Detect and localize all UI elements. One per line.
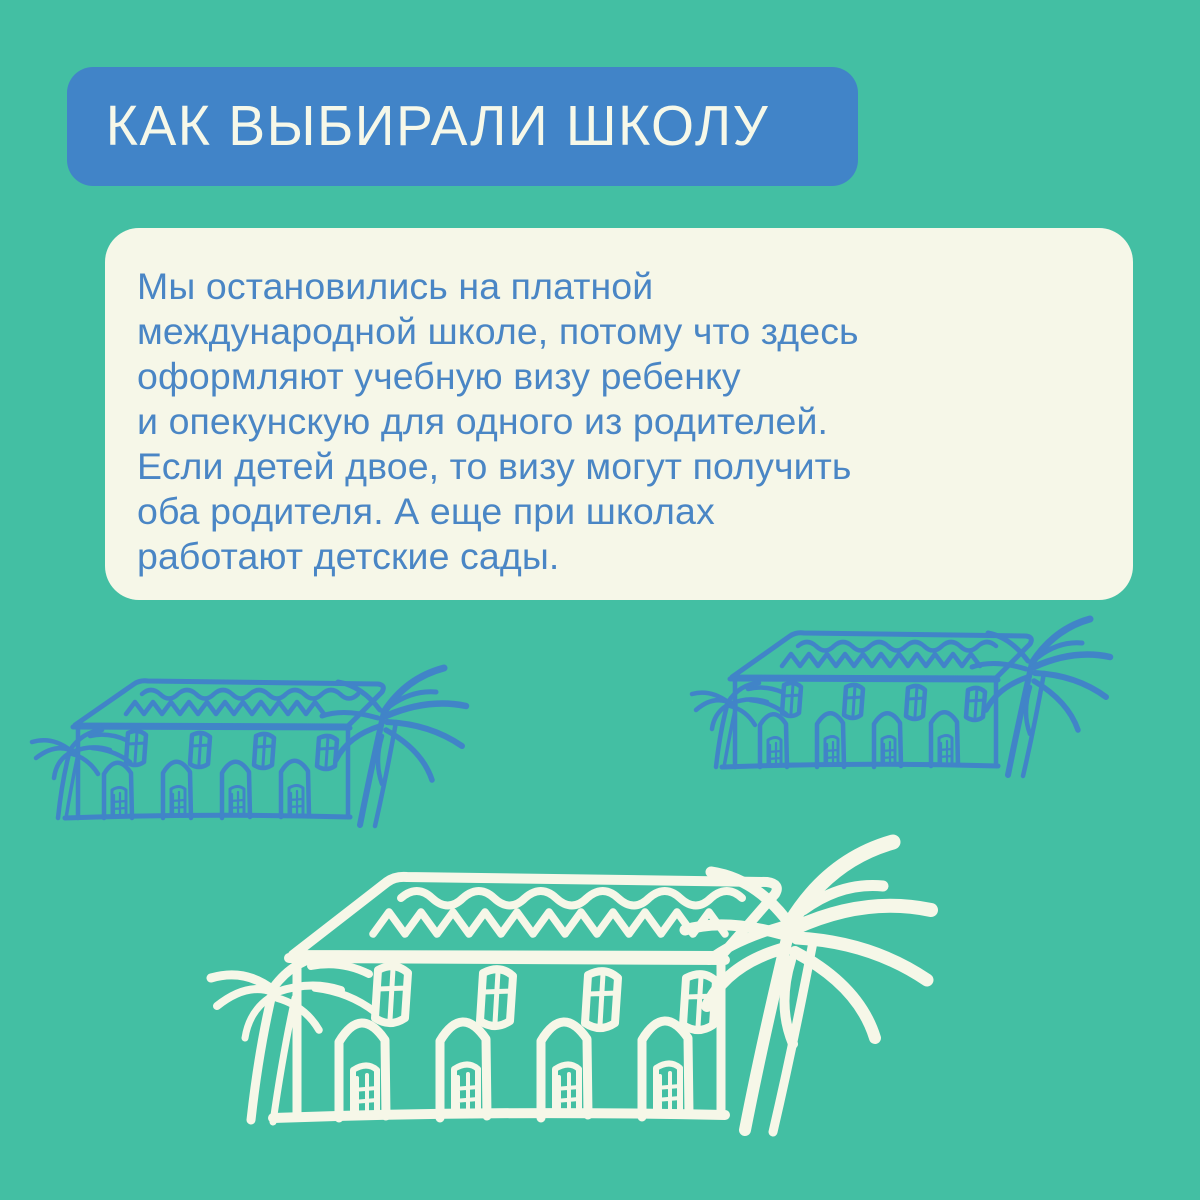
palm-right-frond-8 (803, 886, 883, 911)
page-title: КАК ВЫБИРАЛИ ШКОЛУ (67, 98, 769, 155)
roof-tiles-lower (373, 912, 725, 934)
palm-left-frond-7 (90, 735, 126, 740)
palm-left-frond-6 (712, 706, 726, 729)
palm-right-trunk (1008, 663, 1032, 775)
palm-right-frond-2 (386, 704, 466, 716)
palm-right-trunk-2 (375, 722, 396, 826)
door-group (760, 712, 958, 767)
palm-right-trunk (745, 922, 791, 1130)
school-building-sketch-right (690, 605, 1140, 815)
window-3 (254, 734, 274, 768)
door-1-panel (768, 738, 781, 766)
palm-left-trunk (58, 750, 70, 818)
palm-left-trunk-2 (66, 754, 78, 818)
door-2-panel (171, 787, 185, 817)
door-1-grid (112, 793, 126, 815)
palm-right-frond-3 (1035, 673, 1106, 697)
palm-left-frond-1 (692, 693, 728, 702)
palm-left-frond-2 (696, 700, 728, 710)
door-4 (931, 712, 958, 766)
palm-left-frond-1 (32, 740, 70, 750)
palm-left-trunk-2 (273, 998, 295, 1122)
door-3-panel (230, 787, 244, 817)
roof-tiles-lower (126, 702, 324, 714)
palm-right-frond-5 (336, 726, 380, 760)
palm-left-frond-8 (315, 988, 375, 1012)
door-3-grid (555, 1074, 579, 1113)
palm-right-frond-6 (972, 663, 1026, 669)
window-group (126, 731, 337, 769)
palm-tree-left (211, 956, 375, 1122)
door-3 (541, 1022, 588, 1118)
title-badge: КАК ВЫБИРАЛИ ШКОЛУ (67, 67, 858, 186)
palm-right-trunk-2 (773, 942, 813, 1132)
door-4-panel (939, 736, 952, 765)
window-3 (906, 686, 925, 719)
roof-tiles-upper (142, 690, 358, 699)
window-4-mullion (319, 737, 337, 766)
palm-left-frond-6 (54, 754, 68, 778)
palm-left-trunk (251, 990, 273, 1120)
window-2 (480, 969, 513, 1026)
palm-right-frond-1 (1032, 619, 1090, 663)
palm-right-frond-2 (795, 906, 931, 928)
ground-line (273, 1113, 725, 1118)
palm-left-frond-3 (70, 730, 102, 750)
window-2-mullion (846, 686, 863, 715)
palm-right-frond-8 (1038, 643, 1082, 657)
window-1 (126, 731, 146, 765)
door-2-grid (171, 792, 185, 815)
palm-left-trunk-2 (724, 705, 736, 767)
palm-right-frond-2 (1034, 655, 1110, 667)
window-2 (844, 685, 863, 718)
palm-left-frond-3 (273, 956, 327, 988)
door-4-panel (289, 786, 303, 816)
door-4-grid (289, 791, 303, 814)
roof-tiles-lower (782, 654, 980, 666)
palm-right-frond-10 (709, 926, 783, 960)
door-group (339, 1021, 689, 1118)
window-4-mullion (686, 977, 716, 1027)
door-3-panel (555, 1065, 579, 1116)
palm-left-frond-5 (72, 754, 98, 774)
palm-tree-left (692, 683, 786, 767)
door-2 (440, 1022, 487, 1118)
palm-right-frond-4 (795, 952, 875, 1038)
palm-right-frond-5 (707, 948, 785, 1006)
palm-right-frond-4 (386, 730, 432, 780)
school-building-svg (30, 650, 500, 870)
door-1-panel (112, 788, 126, 817)
door-1 (104, 763, 132, 818)
door-1-grid (768, 743, 781, 764)
roof-outline (293, 877, 777, 956)
window-1 (782, 683, 801, 716)
palm-right-frond-6 (685, 925, 781, 934)
window-1-mullion (128, 732, 146, 762)
school-building-svg (690, 605, 1140, 815)
window-4 (966, 688, 985, 720)
door-3-grid (882, 742, 895, 764)
door-3-panel (882, 737, 895, 766)
school-building-svg (215, 830, 1015, 1180)
door-2-grid (825, 742, 838, 764)
palm-right-frond-9 (1026, 687, 1030, 734)
palm-tree-right (685, 842, 931, 1132)
door-4 (281, 761, 309, 817)
window-4 (317, 736, 337, 769)
door-2-panel (825, 737, 838, 766)
window-group (375, 966, 716, 1030)
palm-right-frond-7 (988, 633, 1028, 661)
palm-left-frond-7 (748, 688, 782, 692)
roof-tiles-upper (401, 891, 742, 906)
door-1 (760, 714, 787, 767)
door-4 (642, 1021, 689, 1117)
window-4-mullion (968, 689, 985, 717)
palm-right-frond-1 (791, 842, 893, 922)
palm-left-frond-2 (36, 748, 70, 758)
door-1-panel (353, 1066, 377, 1116)
door-2 (163, 762, 191, 818)
palm-left-frond-3 (728, 683, 759, 702)
palm-left-frond-8 (750, 700, 786, 714)
door-4-grid (656, 1073, 680, 1112)
body-paragraph: Мы остановились на платной международной… (137, 264, 1093, 579)
palm-left-frond-4 (72, 747, 110, 752)
window-2-mullion (192, 734, 210, 764)
window-1-mullion (784, 684, 801, 713)
door-1-grid (353, 1075, 377, 1113)
palm-tree-right (972, 619, 1110, 776)
window-3-mullion (588, 974, 618, 1025)
window-1 (375, 966, 408, 1023)
door-group (104, 761, 309, 818)
school-building-sketch-left (30, 650, 500, 870)
window-2 (190, 733, 210, 767)
palm-right-frond-9 (784, 960, 793, 1044)
palm-tree-left (32, 730, 130, 818)
door-2-grid (454, 1074, 478, 1113)
window-3 (585, 971, 618, 1028)
poster-canvas: КАК ВЫБИРАЛИ ШКОЛУ Мы остановились на пл… (0, 0, 1200, 1200)
palm-right-frond-8 (390, 692, 436, 706)
ground-line (722, 764, 998, 767)
palm-left-frond-8 (92, 748, 130, 762)
school-building-sketch-main (215, 830, 1015, 1180)
palm-left-frond-4 (730, 699, 767, 704)
palm-right-frond-4 (1034, 681, 1078, 730)
palm-right-trunk-2 (1023, 673, 1044, 776)
window-4 (683, 974, 716, 1030)
palm-left-frond-5 (730, 706, 755, 725)
roof-tiles-upper (798, 642, 996, 651)
roof-eave (730, 679, 998, 680)
window-3-mullion (256, 735, 274, 765)
palm-left-frond-5 (277, 998, 319, 1030)
window-group (782, 683, 985, 720)
palm-right-frond-7 (711, 872, 785, 918)
roof-eave (73, 727, 350, 728)
roof-eave (289, 958, 725, 960)
palm-right-frond-3 (797, 938, 927, 980)
door-3-grid (230, 792, 244, 815)
body-card: Мы остановились на платной международной… (105, 228, 1133, 600)
window-1-mullion (378, 969, 408, 1020)
door-4-grid (939, 741, 952, 763)
door-2-panel (454, 1065, 478, 1116)
palm-left-trunk (716, 702, 728, 767)
roof-outline (75, 681, 383, 726)
door-3 (874, 713, 901, 767)
palm-right-frond-3 (387, 722, 462, 746)
roof-outline (732, 633, 1031, 678)
palm-right-frond-6 (322, 712, 378, 718)
palm-right-frond-7 (338, 682, 380, 710)
door-2 (817, 713, 844, 767)
palm-right-frond-9 (378, 736, 382, 784)
door-4-panel (656, 1064, 680, 1115)
door-3 (222, 762, 250, 818)
palm-right-frond-5 (986, 677, 1028, 710)
palm-left-frond-1 (211, 975, 273, 990)
palm-tree-right (322, 668, 466, 826)
window-3-mullion (908, 687, 925, 716)
door-1 (339, 1023, 386, 1118)
ground-line (65, 815, 350, 818)
palm-right-trunk (360, 712, 384, 825)
palm-left-frond-7 (311, 964, 369, 974)
window-2-mullion (483, 972, 513, 1023)
palm-left-frond-4 (277, 985, 341, 992)
palm-left-frond-2 (217, 989, 273, 1006)
palm-left-frond-6 (245, 998, 269, 1038)
palm-right-frond-1 (384, 668, 444, 712)
